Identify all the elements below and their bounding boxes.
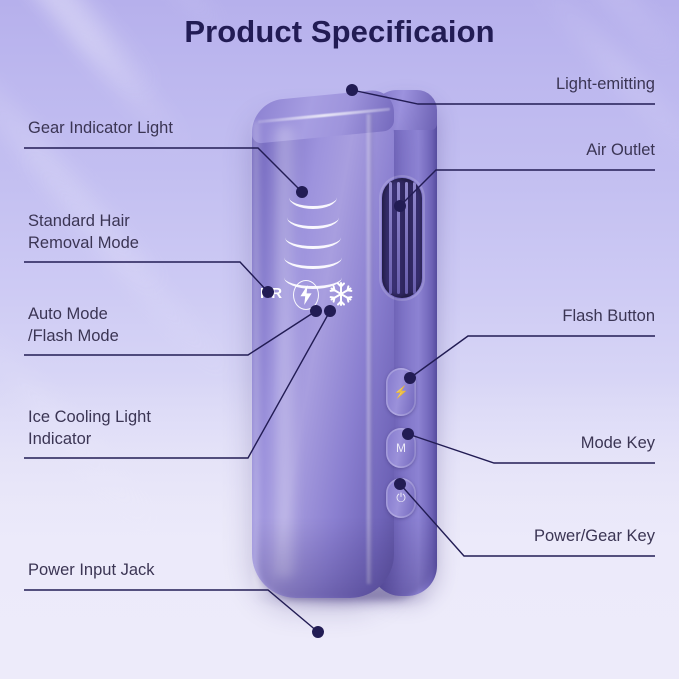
callout-label-ice-cooling-light-indicator: Ice Cooling Light Indicator [28, 407, 151, 451]
page-title: Product Specificaion [0, 14, 679, 50]
hr-text-icon: HR [260, 285, 282, 302]
callout-label-standard-hair-removal-mode: Standard Hair Removal Mode [28, 211, 139, 255]
gear-indicator-bar [289, 195, 337, 209]
gear-indicator-bar [285, 235, 341, 249]
flash-bolt-glyph [299, 285, 313, 305]
mode-key-glyph: M [386, 441, 416, 455]
callout-label-air-outlet: Air Outlet [586, 140, 655, 162]
air-outlet-rim [379, 175, 425, 301]
flash-button-glyph: ⚡ [386, 385, 416, 399]
callout-label-power-gear-key: Power/Gear Key [534, 526, 655, 548]
gear-indicator-light [284, 195, 346, 291]
product-specification-diagram: Product Specificaion HR [0, 0, 679, 679]
mode-icon-row: HR [260, 280, 370, 310]
snowflake-icon [328, 281, 354, 307]
flash-button[interactable]: ⚡ [386, 368, 416, 416]
callout-label-gear-indicator-light: Gear Indicator Light [28, 118, 173, 140]
flash-bolt-icon [293, 280, 319, 310]
device-illustration: HR [236, 80, 446, 610]
device-gloss-highlight [270, 126, 300, 578]
power-gear-key-glyph: ⏻ [386, 491, 416, 506]
callout-label-light-emitting: Light-emitting [556, 74, 655, 96]
callout-label-flash-button: Flash Button [562, 306, 655, 328]
power-gear-key-button[interactable]: ⏻ [386, 478, 416, 518]
gear-indicator-bar [284, 255, 342, 269]
snowflake-glyph [328, 281, 354, 307]
callout-label-power-input-jack: Power Input Jack [28, 560, 155, 582]
callout-label-auto-mode-flash-mode: Auto Mode /Flash Mode [28, 304, 119, 348]
device-panel-seam [367, 114, 373, 584]
mode-key-button[interactable]: M [386, 428, 416, 468]
device-bottom-shading [256, 520, 436, 600]
gear-indicator-bar [287, 215, 339, 229]
callout-label-mode-key: Mode Key [581, 433, 655, 455]
